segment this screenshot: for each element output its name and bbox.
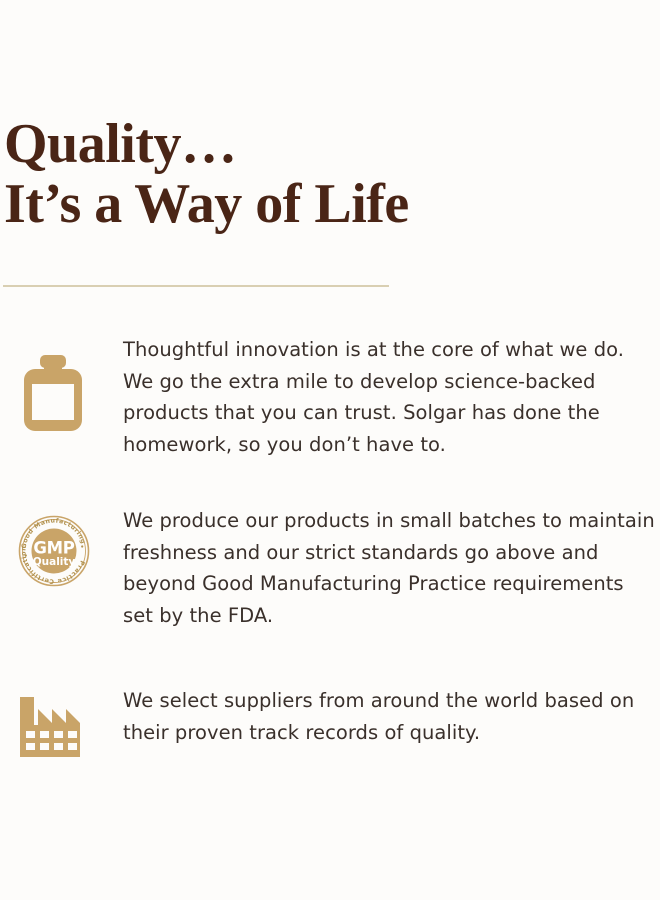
gmp-seal-center-primary: GMP (33, 539, 74, 558)
feature-item-innovation: Thoughtful innovation is at the core of … (0, 330, 660, 505)
supplement-bottle-icon (18, 354, 88, 432)
heading-line-1: Quality… (4, 112, 644, 176)
gmp-quality-seal-icon: Good Manufacturing Practice Certificatio… (18, 515, 90, 587)
feature-text-suppliers: We select suppliers from around the worl… (123, 685, 656, 748)
feature-icon-cell (0, 685, 123, 761)
feature-icon-cell (0, 330, 123, 432)
feature-text-cell: Thoughtful innovation is at the core of … (123, 330, 660, 460)
feature-list: Thoughtful innovation is at the core of … (0, 330, 660, 805)
heading-divider (3, 285, 389, 287)
heading-line-2: It’s a Way of Life (4, 172, 644, 236)
factory-icon (18, 693, 90, 761)
page-title: Quality… It’s a Way of Life (4, 112, 644, 236)
feature-icon-cell: Good Manufacturing Practice Certificatio… (0, 505, 123, 587)
feature-item-suppliers: We select suppliers from around the worl… (0, 685, 660, 805)
feature-text-cell: We produce our products in small batches… (123, 505, 660, 631)
feature-text-cell: We select suppliers from around the worl… (123, 685, 660, 748)
feature-item-manufacturing: Good Manufacturing Practice Certificatio… (0, 505, 660, 685)
feature-text-manufacturing: We produce our products in small batches… (123, 505, 656, 631)
gmp-seal-center-secondary: Quality (33, 556, 76, 568)
quality-brand-panel: Quality… It’s a Way of Life Thoug (0, 0, 660, 900)
feature-text-innovation: Thoughtful innovation is at the core of … (123, 334, 656, 460)
